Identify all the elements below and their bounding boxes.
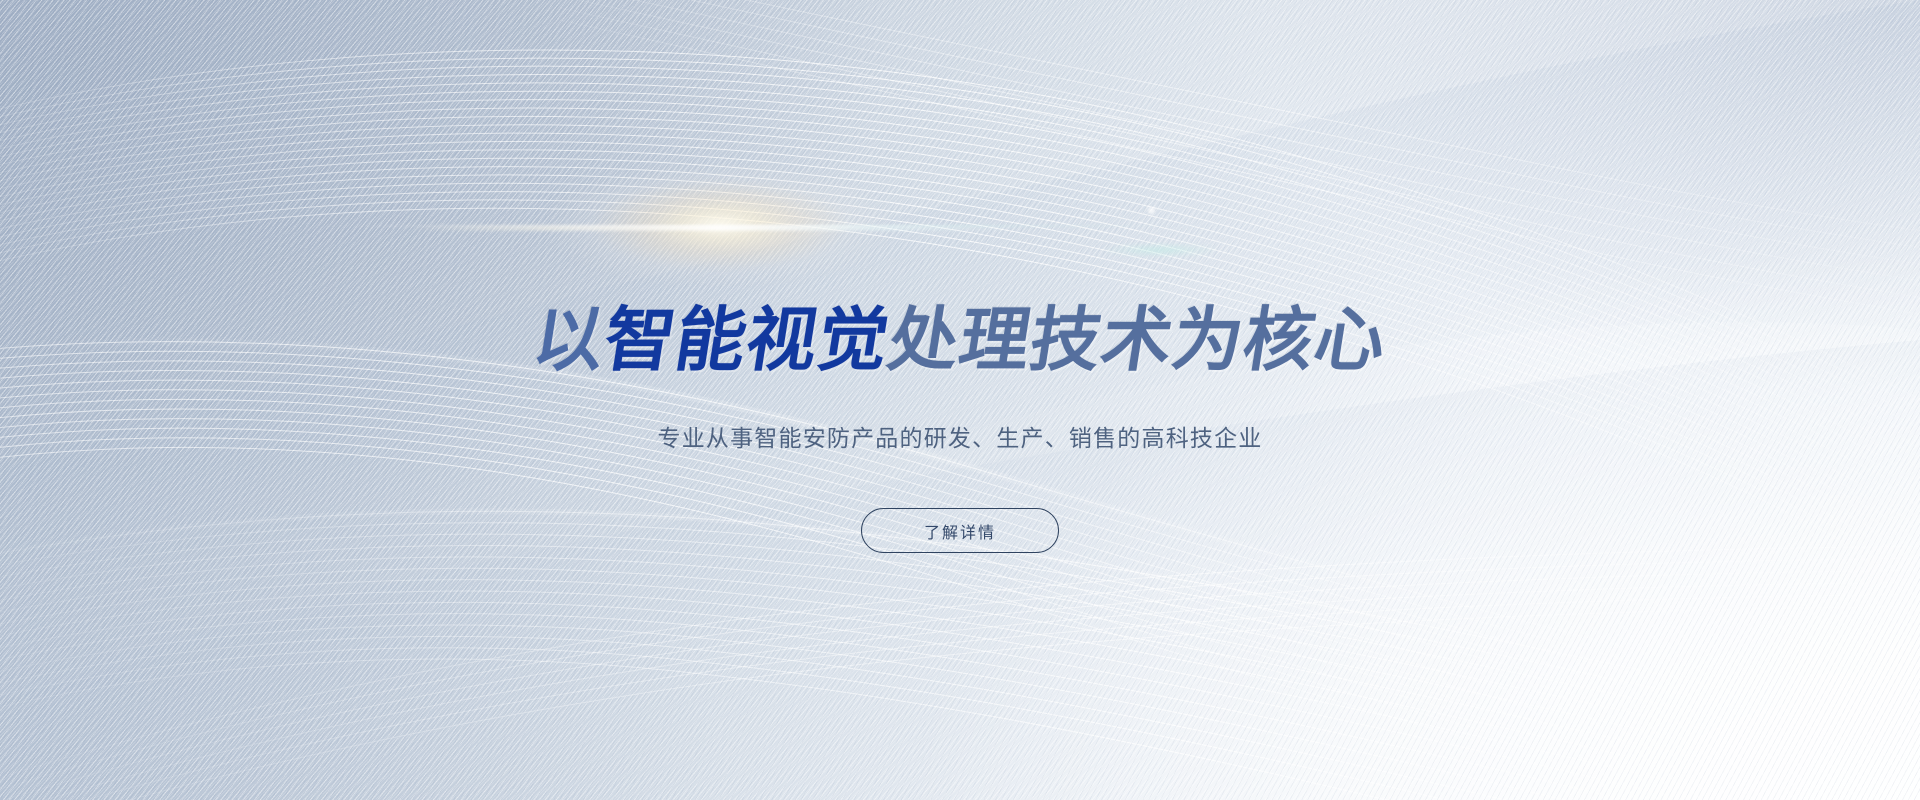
page-title: 以智能视觉处理技术为核心 (0, 305, 1920, 375)
learn-more-button[interactable]: 了解详情 (861, 508, 1059, 553)
hero-banner: 以智能视觉处理技术为核心 专业从事智能安防产品的研发、生产、销售的高科技企业 了… (0, 0, 1920, 800)
cta-container: 了解详情 (0, 508, 1920, 553)
page-title-segment-tail: 处理技术为核心 (883, 305, 1391, 375)
page-title-segment-lead: 以 (528, 305, 610, 375)
hero-content: 以智能视觉处理技术为核心 专业从事智能安防产品的研发、生产、销售的高科技企业 了… (0, 0, 1920, 800)
page-title-segment-highlight: 智能视觉 (599, 305, 894, 375)
page-subtitle: 专业从事智能安防产品的研发、生产、销售的高科技企业 (0, 423, 1920, 455)
